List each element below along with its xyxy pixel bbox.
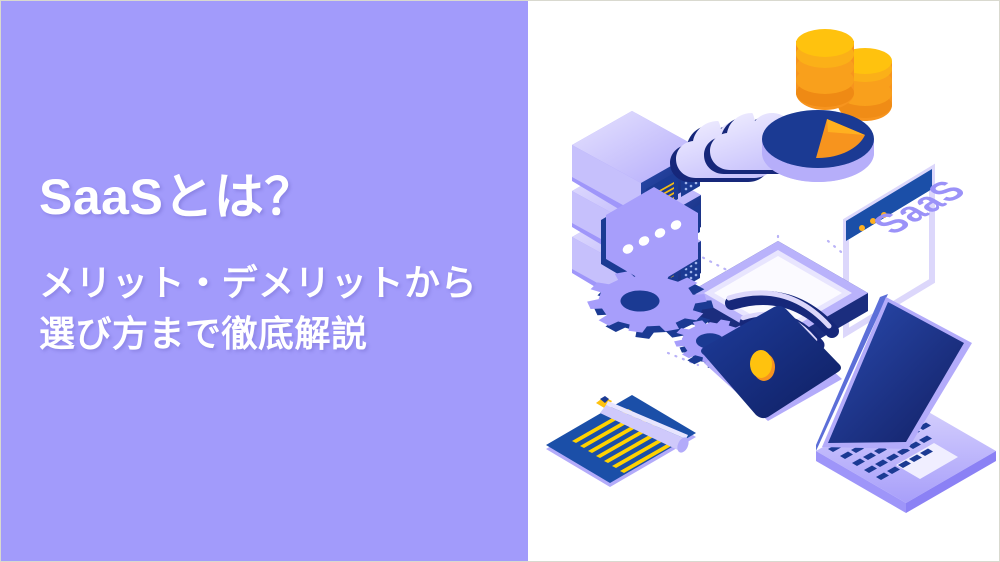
- left-purple-panel: SaaSとは？ メリット・デメリットから 選び方まで徹底解説: [1, 1, 528, 561]
- coin-stack-icon: [796, 29, 892, 121]
- page-title: SaaSとは？: [39, 169, 509, 227]
- right-illustration-panel: SaaS: [528, 1, 1000, 561]
- headline-block: SaaSとは？ メリット・デメリットから 選び方まで徹底解説: [39, 169, 509, 359]
- coin-stack-left: [796, 29, 854, 110]
- pie-chart-icon: [762, 110, 874, 182]
- saas-banner: SaaSとは？ メリット・デメリットから 選び方まで徹底解説: [0, 0, 1000, 562]
- subtitle-line-1: メリット・デメリットから: [39, 257, 509, 308]
- saas-concept-illustration: SaaS: [528, 1, 1000, 562]
- subtitle-line-2: 選び方まで徹底解説: [39, 308, 509, 359]
